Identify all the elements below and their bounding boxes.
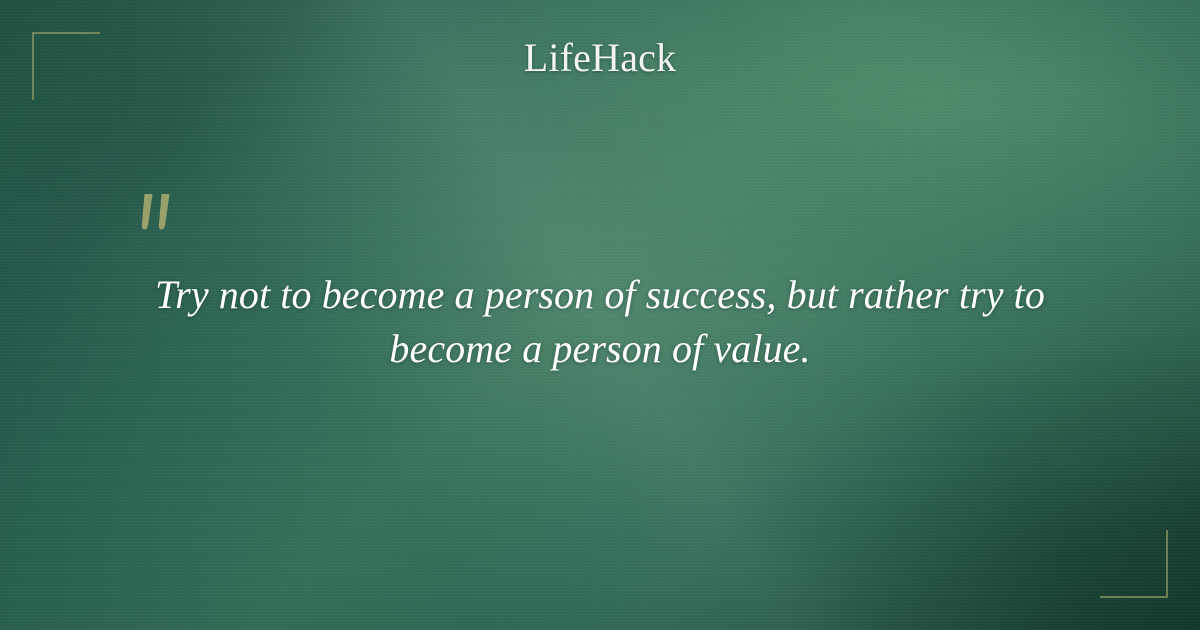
quotation-mark-icon (132, 190, 192, 246)
brand-name-text: LifeHack (524, 38, 677, 78)
quote-line-2: become a person of value. (140, 322, 1060, 376)
quote-card: LifeHack Try not to become a person of s… (0, 0, 1200, 630)
brand-logo: LifeHack (0, 38, 1200, 78)
quote-text: Try not to become a person of success, b… (140, 268, 1060, 375)
corner-bracket-bottom-right-icon (1100, 530, 1168, 598)
quote-line-1: Try not to become a person of success, b… (140, 268, 1060, 322)
